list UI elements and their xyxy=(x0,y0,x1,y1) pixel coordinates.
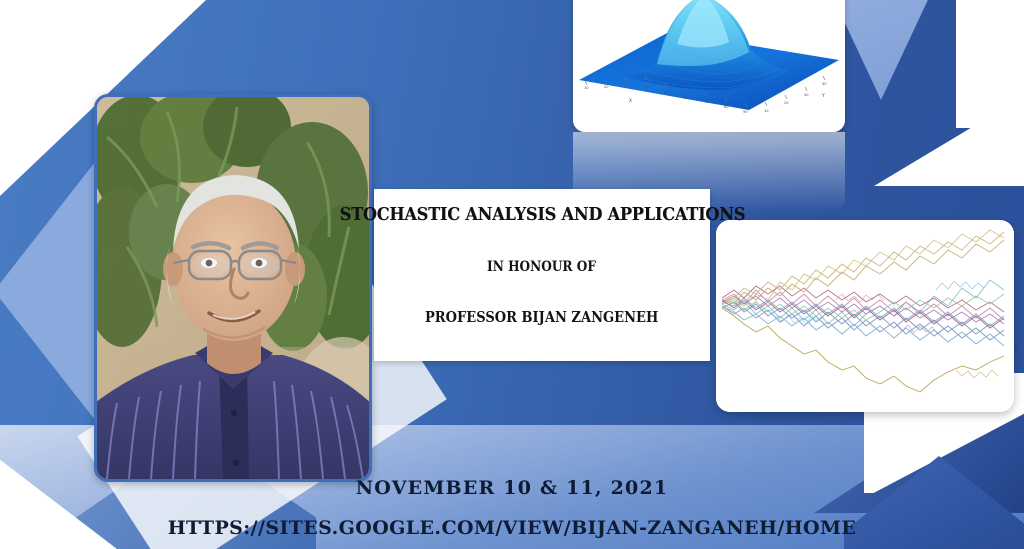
portrait-illustration xyxy=(97,97,369,479)
honouree-name: PROFESSOR BIJAN ZANGENEH xyxy=(425,309,658,326)
event-url[interactable]: HTTPS://SITES.GOOGLE.COM/VIEW/BIJAN-ZANG… xyxy=(0,517,1024,539)
conference-poster: 102030 405060 708090 102030 40 X Y xyxy=(0,0,1024,549)
svg-text:90: 90 xyxy=(743,110,748,114)
gaussian-surface-plot: 102030 405060 708090 102030 40 X Y xyxy=(573,0,845,132)
brownian-paths-card xyxy=(716,220,1014,412)
svg-text:40: 40 xyxy=(644,85,649,89)
event-date: NOVEMBER 10 & 11, 2021 xyxy=(0,477,1024,499)
svg-text:40: 40 xyxy=(822,82,827,86)
surface-plot-card: 102030 405060 708090 102030 40 X Y xyxy=(573,0,845,132)
portrait-photo xyxy=(94,94,372,482)
poster-title: STOCHASTIC ANALYSIS AND APPLICATIONS xyxy=(339,205,745,225)
svg-text:20: 20 xyxy=(784,101,789,105)
honour-line: IN HONOUR OF xyxy=(488,259,597,275)
svg-text:80: 80 xyxy=(724,105,729,109)
svg-text:60: 60 xyxy=(684,96,689,100)
svg-text:Y: Y xyxy=(821,93,825,99)
svg-text:30: 30 xyxy=(804,93,809,97)
title-card: STOCHASTIC ANALYSIS AND APPLICATIONS IN … xyxy=(374,189,710,361)
svg-text:20: 20 xyxy=(604,85,609,89)
svg-text:X: X xyxy=(629,98,632,104)
svg-text:50: 50 xyxy=(664,91,669,95)
svg-text:10: 10 xyxy=(764,109,769,113)
svg-text:70: 70 xyxy=(704,100,709,104)
svg-text:30: 30 xyxy=(624,84,629,88)
svg-text:10: 10 xyxy=(584,86,589,90)
brownian-paths-plot xyxy=(716,220,1014,412)
